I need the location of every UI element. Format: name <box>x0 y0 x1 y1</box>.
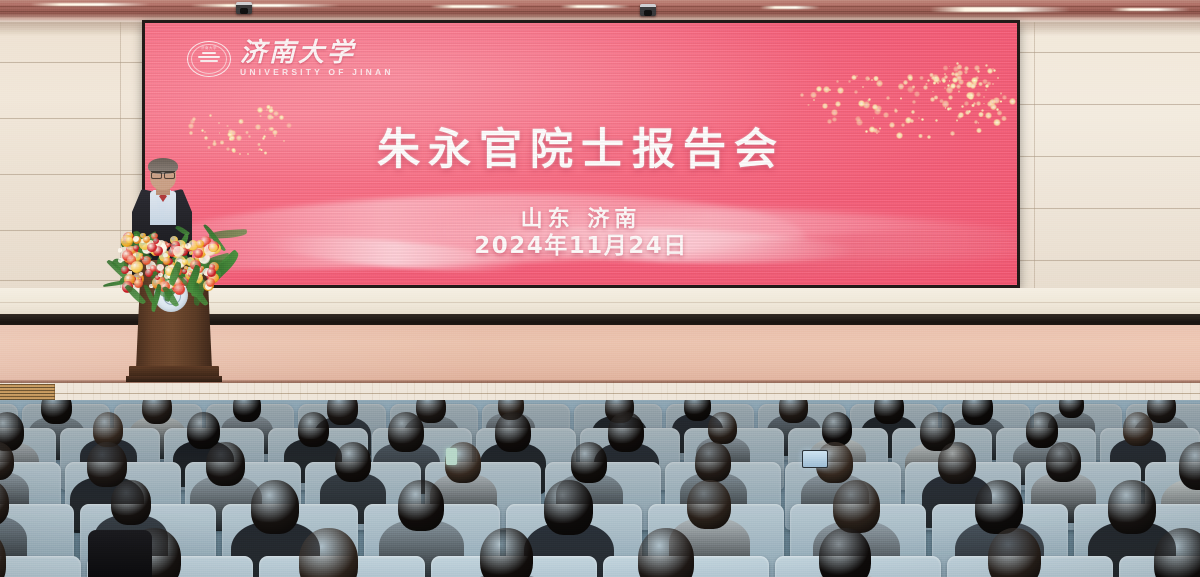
led-stage-screen: 济南大学 济南大学 UNIVERSITY OF JINAN 朱永官院士报告会 山… <box>142 20 1020 288</box>
flower-bloom <box>174 284 185 295</box>
sparkle-icon <box>257 107 262 112</box>
ceiling-camera-icon <box>236 2 252 14</box>
person-head <box>938 442 976 484</box>
person-head <box>779 400 808 423</box>
leaf <box>175 224 190 237</box>
flower-bloom <box>133 245 139 251</box>
audience-person <box>480 528 591 577</box>
audience-person <box>1154 528 1200 577</box>
university-seal-icon: 济南大学 <box>187 41 231 77</box>
logo-name-cn: 济南大学 <box>240 40 394 66</box>
person-head <box>988 528 1042 577</box>
right-wall-panels <box>1018 22 1200 328</box>
flower-bloom <box>163 257 170 264</box>
person-head <box>708 412 737 444</box>
sparkle-icon <box>848 80 851 83</box>
sparkle-icon <box>981 109 984 112</box>
sparkle-icon <box>919 76 924 81</box>
person-head <box>687 480 731 529</box>
audience-person <box>638 528 756 577</box>
sparkle-icon <box>934 95 939 100</box>
person-head <box>0 528 6 577</box>
sparkle-icon <box>929 73 933 77</box>
person-head <box>251 480 299 534</box>
audience-person <box>299 528 423 577</box>
sparkle-icon <box>957 64 963 70</box>
lecture-hall-photo: 济南大学 济南大学 UNIVERSITY OF JINAN 朱永官院士报告会 山… <box>0 0 1200 577</box>
ceiling-camera-icon <box>640 4 656 16</box>
person-head <box>480 528 533 577</box>
seated-audience <box>0 400 1200 577</box>
screen-title: 朱永官院士报告会 <box>145 115 1017 177</box>
flower-bloom <box>147 243 156 252</box>
sparkle-icon <box>800 93 804 97</box>
person-head <box>684 400 712 421</box>
flower-bloom <box>133 236 139 242</box>
person-head <box>695 442 731 482</box>
screen-subtitle-date: 2024年11月24日 <box>145 226 1017 260</box>
flower-bloom <box>158 273 162 277</box>
flower-bloom <box>189 251 193 255</box>
flower-bloom <box>126 237 133 244</box>
sparkle-icon <box>873 76 879 82</box>
sparkle-icon <box>976 92 981 97</box>
audience-person <box>0 528 70 577</box>
sparkle-icon <box>985 84 988 87</box>
sparkle-icon <box>912 100 916 104</box>
sparkle-icon <box>997 77 999 79</box>
person-head <box>1046 442 1082 482</box>
sparkle-icon <box>911 110 915 114</box>
sparkle-icon <box>266 109 268 111</box>
floral-arrangement <box>102 218 230 296</box>
sparkle-icon <box>993 97 1000 104</box>
person-head <box>975 480 1023 534</box>
person-head <box>1108 480 1156 534</box>
sparkle-icon <box>1002 95 1007 100</box>
sparkle-icon <box>942 100 949 107</box>
flower-bloom <box>206 278 215 287</box>
podium-area <box>110 160 240 390</box>
ceiling-soffit <box>0 0 1200 22</box>
person-head <box>335 442 371 482</box>
person-head <box>819 528 871 577</box>
sparkle-icon <box>822 103 828 109</box>
laptop-screen <box>802 450 828 468</box>
sparkle-icon <box>978 82 982 86</box>
flower-bloom <box>207 268 216 277</box>
sparkle-icon <box>983 96 985 98</box>
audience-person <box>819 528 929 577</box>
sparkle-icon <box>270 106 273 109</box>
sparkle-icon <box>976 101 981 106</box>
person-head <box>298 412 329 447</box>
sparkle-icon <box>968 110 971 113</box>
sparkle-icon <box>886 96 889 99</box>
sparkle-icon <box>964 101 969 106</box>
person-head <box>111 480 151 525</box>
audience-person <box>988 528 1101 577</box>
sparkle-icon <box>837 87 844 94</box>
person-head <box>1123 412 1153 446</box>
phone-screen <box>446 448 457 465</box>
person-head <box>571 442 607 483</box>
person-head <box>206 442 245 486</box>
sparkle-icon <box>816 86 822 92</box>
camera-bag <box>88 530 152 577</box>
sparkle-icon <box>985 64 988 67</box>
sparkle-icon <box>875 105 881 111</box>
person-head <box>299 528 358 577</box>
person-head <box>638 528 694 577</box>
sparkle-icon <box>854 90 858 94</box>
logo-name-en: UNIVERSITY OF JINAN <box>240 67 394 77</box>
sparkle-icon <box>1000 100 1002 102</box>
sparkle-icon <box>985 89 987 91</box>
seal-rim-text: 济南大学 <box>187 45 231 50</box>
person-head <box>833 480 880 533</box>
flower-bloom <box>131 261 143 273</box>
sparkle-icon <box>974 65 980 71</box>
person-head <box>544 480 593 535</box>
flower-bloom <box>166 243 170 247</box>
sparkle-icon <box>947 84 950 87</box>
flower-bloom <box>209 244 217 252</box>
sparkle-icon <box>958 90 960 92</box>
eyeglasses-icon <box>151 171 175 176</box>
university-logo: 济南大学 济南大学 UNIVERSITY OF JINAN <box>187 40 394 77</box>
person-head <box>1154 528 1200 577</box>
sparkle-icon <box>944 75 948 79</box>
sparkle-icon <box>961 105 964 108</box>
sparkle-icon <box>907 74 913 80</box>
flower-bloom <box>182 269 187 274</box>
sparkle-icon <box>1000 92 1002 94</box>
person-head <box>398 480 444 531</box>
